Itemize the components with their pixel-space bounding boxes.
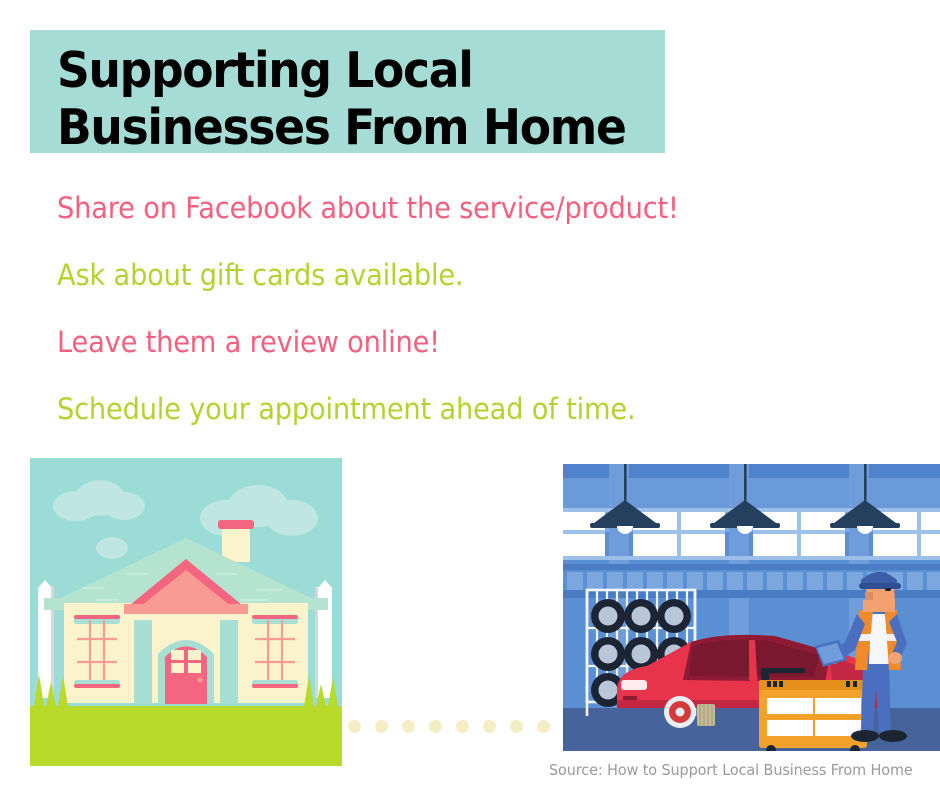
list-item: Leave them a review online! xyxy=(57,327,865,357)
slide-canvas: Supporting Local Businesses From Home Sh… xyxy=(0,0,940,788)
house-illustration xyxy=(30,458,342,766)
divider-dot xyxy=(537,720,550,733)
divider-dot xyxy=(348,720,361,733)
tips-list: Share on Facebook about the service/prod… xyxy=(57,193,917,461)
divider-dot xyxy=(429,720,442,733)
divider-dot xyxy=(402,720,415,733)
list-item: Schedule your appointment ahead of time. xyxy=(57,394,865,424)
dotted-divider xyxy=(348,719,563,733)
divider-dot xyxy=(483,720,496,733)
page-title: Supporting Local Businesses From Home xyxy=(57,30,764,156)
divider-dot xyxy=(456,720,469,733)
list-item: Ask about gift cards available. xyxy=(57,260,865,290)
divider-dot xyxy=(375,720,388,733)
divider-dot xyxy=(510,720,523,733)
auto-shop-illustration xyxy=(563,464,940,751)
list-item: Share on Facebook about the service/prod… xyxy=(57,193,865,223)
source-caption: Source: How to Support Local Business Fr… xyxy=(549,761,924,779)
